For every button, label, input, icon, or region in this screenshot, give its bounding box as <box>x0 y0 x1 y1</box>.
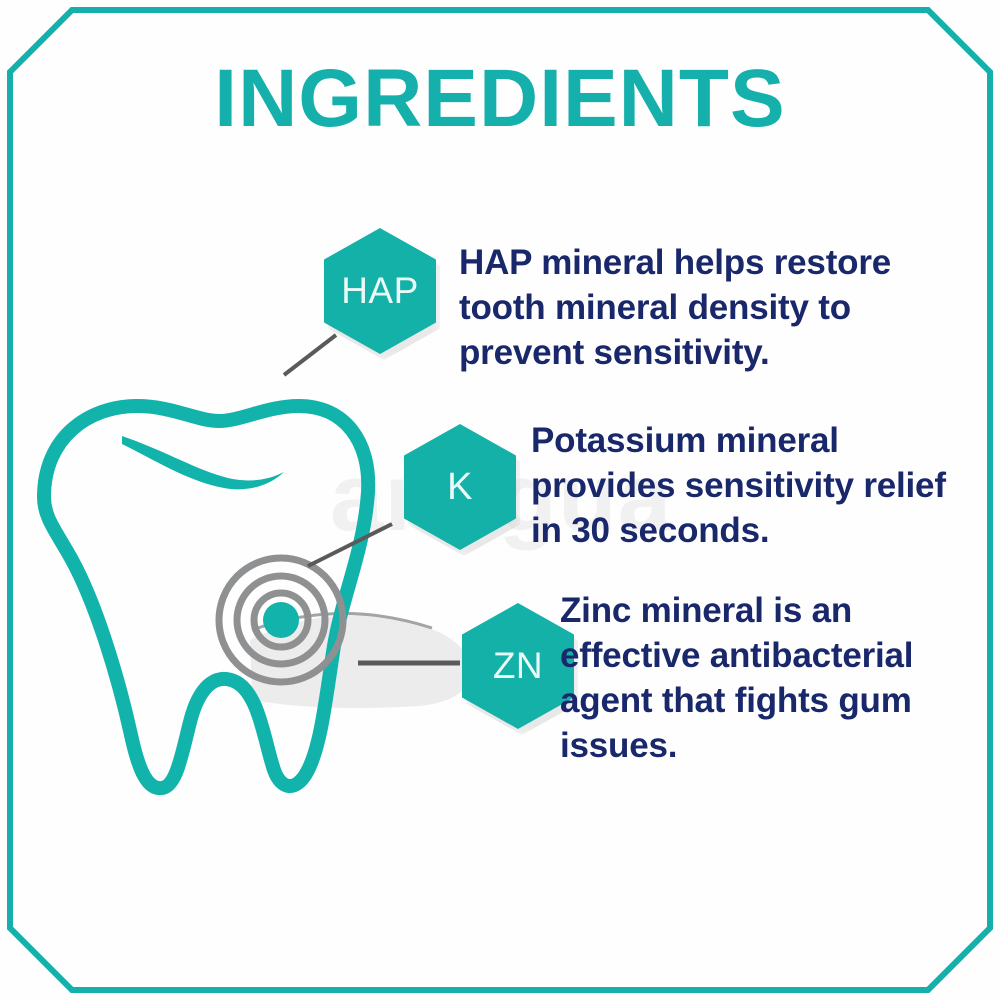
badge-k-label: K <box>447 466 473 509</box>
connector-hap <box>284 335 336 375</box>
description-k: Potassium mineral provides sensitivity r… <box>531 418 951 553</box>
ingredients-infographic: anagua INGREDIENTS HAP K <box>0 0 1000 1000</box>
description-hap: HAP mineral helps restore tooth mineral … <box>459 240 969 375</box>
sensitivity-target-icon <box>219 558 343 682</box>
badge-hap-label: HAP <box>341 270 419 312</box>
description-zn: Zinc mineral is an effective antibacteri… <box>560 588 970 768</box>
badge-zn-label: ZN <box>493 645 543 687</box>
